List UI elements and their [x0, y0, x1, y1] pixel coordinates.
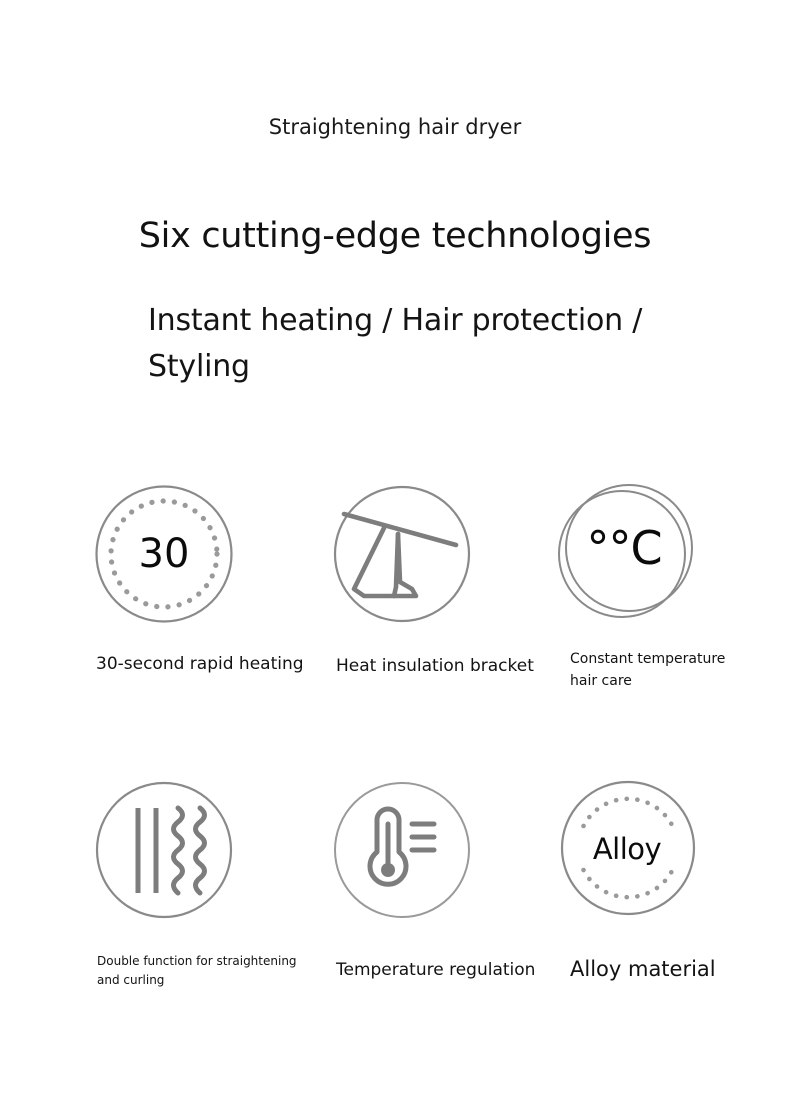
- feature-label-rapid-heating: 30-second rapid heating: [96, 652, 336, 676]
- feature-label-alloy-material: Alloy material: [570, 955, 790, 983]
- alloy-material-icon: Alloy: [558, 778, 698, 918]
- feature-label-straighten-curl: Double function for straightening and cu…: [97, 952, 307, 990]
- thermometer-icon: [332, 780, 472, 920]
- straight-and-wavy-hair-icon: [94, 780, 234, 920]
- feature-grid: 30 30-second rapid heating Heat insulati…: [0, 0, 790, 1106]
- heat-insulation-bracket-icon: [332, 484, 472, 624]
- timer-30-seconds-icon: 30: [94, 484, 234, 624]
- degrees-celsius-icon: °°C: [556, 482, 696, 622]
- feature-label-temperature-regulation: Temperature regulation: [336, 958, 571, 982]
- feature-label-constant-temperature: Constant temperature hair care: [570, 648, 755, 692]
- feature-label-insulation-bracket: Heat insulation bracket: [336, 654, 566, 678]
